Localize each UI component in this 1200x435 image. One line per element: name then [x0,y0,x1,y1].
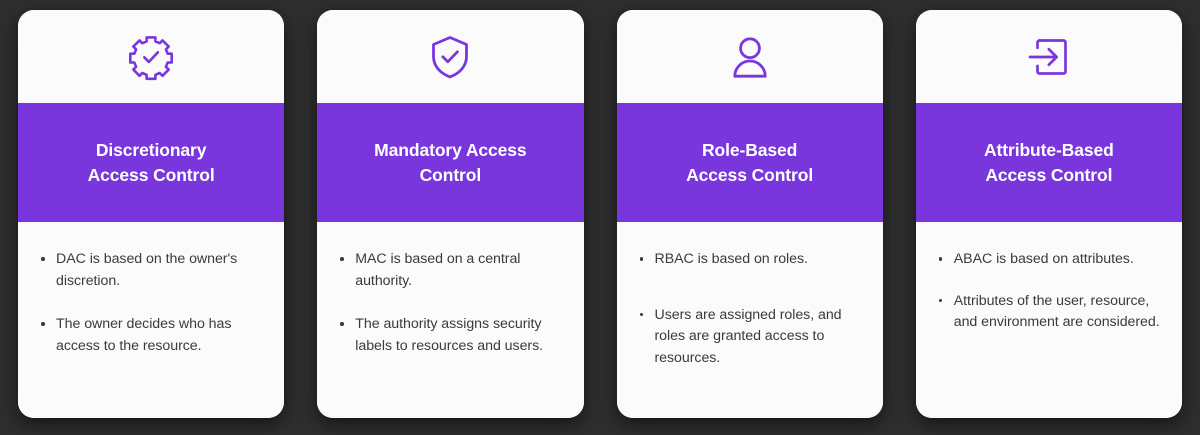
card-title: Attribute-Based Access Control [984,138,1114,188]
card-title: Mandatory Access Control [374,138,526,188]
card-body: DAC is based on the owner's discretion. … [18,222,284,418]
card-icon-container [916,10,1182,103]
card-title-banner: Discretionary Access Control [18,103,284,222]
card-discretionary-access-control[interactable]: Discretionary Access Control DAC is base… [18,10,284,418]
card-body: ABAC is based on attributes. Attributes … [916,222,1182,418]
card-body: MAC is based on a central authority. The… [317,222,583,418]
shield-check-icon [426,33,474,81]
bullet-list: ABAC is based on attributes. Attributes … [936,249,1162,334]
list-item: ABAC is based on attributes. [936,249,1162,271]
access-control-card-board: Discretionary Access Control DAC is base… [0,0,1200,435]
bullet-list: DAC is based on the owner's discretion. … [38,249,264,357]
card-title-banner: Role-Based Access Control [617,103,883,222]
user-person-icon [726,33,774,81]
card-icon-container [617,10,883,103]
card-title: Discretionary Access Control [88,138,215,188]
bullet-list: RBAC is based on roles. Users are assign… [637,249,863,369]
card-body: RBAC is based on roles. Users are assign… [617,222,883,418]
list-item: The authority assigns security labels to… [337,314,563,357]
list-item: Attributes of the user, resource, and en… [936,291,1162,334]
list-item: RBAC is based on roles. [637,249,863,271]
gear-check-icon [127,33,175,81]
card-icon-container [317,10,583,103]
list-item: Users are assigned roles, and roles are … [637,305,863,370]
list-item: The owner decides who has access to the … [38,314,264,357]
card-icon-container [18,10,284,103]
list-item: DAC is based on the owner's discretion. [38,249,264,292]
card-title-banner: Attribute-Based Access Control [916,103,1182,222]
card-title-banner: Mandatory Access Control [317,103,583,222]
bullet-list: MAC is based on a central authority. The… [337,249,563,357]
card-role-based-access-control[interactable]: Role-Based Access Control RBAC is based … [617,10,883,418]
login-arrow-icon [1025,33,1073,81]
card-title: Role-Based Access Control [686,138,813,188]
card-mandatory-access-control[interactable]: Mandatory Access Control MAC is based on… [317,10,583,418]
list-item: MAC is based on a central authority. [337,249,563,292]
card-attribute-based-access-control[interactable]: Attribute-Based Access Control ABAC is b… [916,10,1182,418]
